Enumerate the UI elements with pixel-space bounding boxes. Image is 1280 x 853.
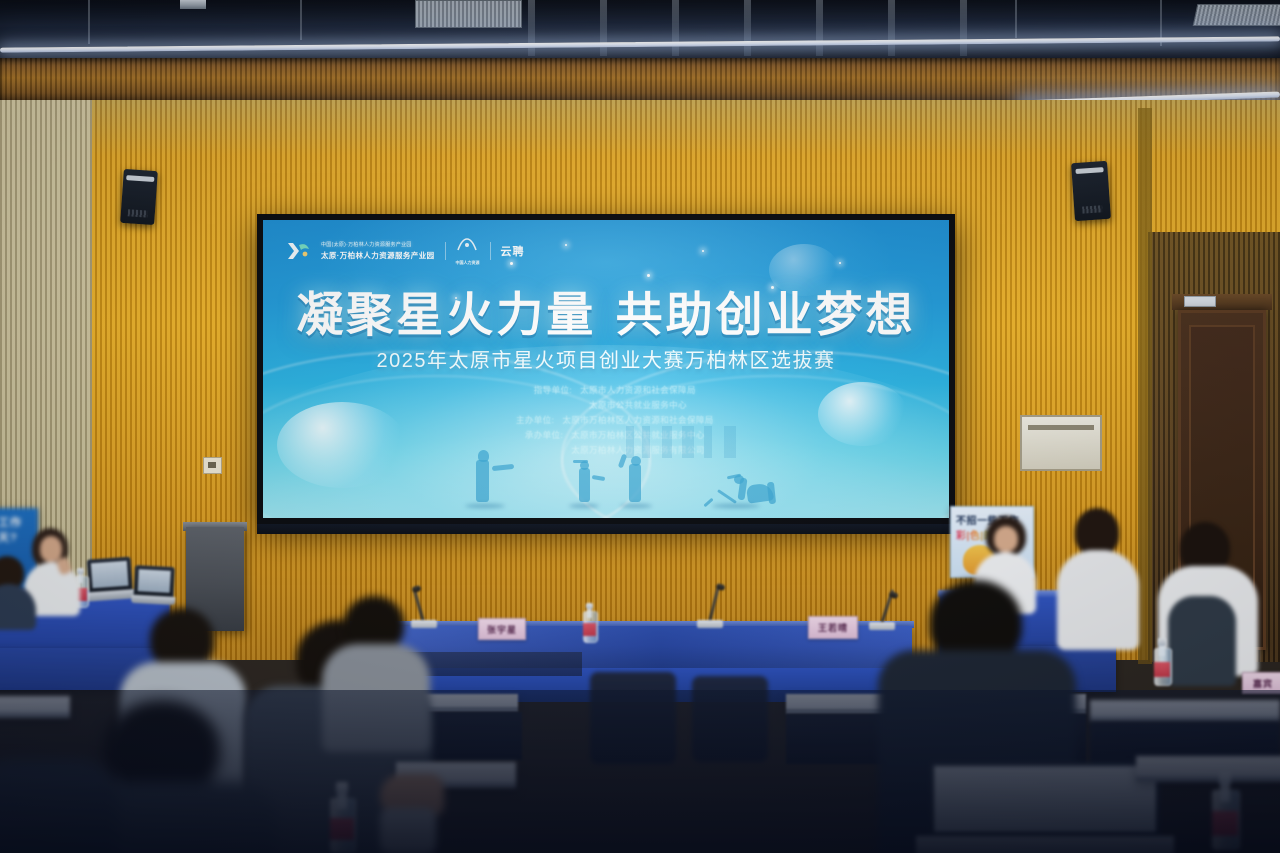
wall-speaker-left [120, 169, 158, 225]
park-logo-top-line: 中国(太原)·万柏林人力资源服务产业园 [321, 241, 435, 248]
ceiling-slat [600, 0, 607, 56]
credit-row: 指导单位: 太原市人力资源和社会保障局 [516, 384, 696, 396]
name-placard-3: 嘉宾 [1242, 672, 1280, 694]
xinghuo-park-logo-icon [285, 240, 311, 262]
name-placard-2: 王若晴 [808, 616, 858, 639]
door-sign [1184, 296, 1216, 307]
credit-value: 太原市人力资源和社会保障局 [580, 384, 696, 396]
audience-person-5 [0, 760, 120, 853]
screen-sparkle [702, 250, 704, 252]
water-bottle-1 [583, 603, 596, 643]
screen-title: 凝聚星火力量 共助创业梦想 [263, 276, 949, 345]
hanger-rod [300, 0, 302, 40]
ceiling [0, 0, 1280, 62]
ceiling-wood-band [0, 58, 1280, 102]
logo-divider-2 [490, 242, 491, 260]
screen-sparkle [565, 244, 567, 246]
ceiling-duct [180, 0, 206, 9]
screen-subtitle: 2025年太原市星火项目创业大赛万柏林区选拔赛 [263, 344, 949, 373]
led-screen-content: 中国(太原)·万柏林人力资源服务产业园 太原·万柏林人力资源服务产业园 中国人力… [263, 220, 949, 518]
ceiling-slat [744, 0, 751, 56]
water-bottle-fg-right [1212, 772, 1238, 850]
ceiling-slat [672, 0, 679, 56]
tertiary-logo-label: 云聘 [501, 243, 525, 259]
chair-2 [692, 676, 768, 762]
ceiling-slat [888, 0, 895, 56]
park-logo-main-line: 太原·万柏林人力资源服务产业园 [321, 250, 435, 261]
control-panel [1020, 415, 1102, 471]
secondary-logo-icon: 中国人力资源 [456, 236, 480, 266]
screen-silhouettes [263, 406, 949, 518]
city-skyline-silhouette [620, 426, 750, 458]
placard-name-2: 王若晴 [818, 621, 848, 634]
laptop-foreground [930, 762, 1160, 853]
laptop-left-1 [87, 557, 134, 602]
water-bottle-right [1154, 638, 1170, 686]
microphone-2 [706, 582, 732, 628]
screen-bottom-bezel [257, 524, 955, 534]
hanger-rod [1015, 0, 1017, 38]
led-screen: 中国(太原)·万柏林人力资源服务产业园 太原·万柏林人力资源服务产业园 中国人力… [257, 214, 955, 524]
ceiling-slat [816, 0, 823, 56]
credit-label: 指导单位: [516, 384, 572, 396]
water-bottle-fg [330, 782, 354, 853]
secondary-logo-label: 中国人力资源 [456, 260, 480, 266]
ceiling-vent-3 [1193, 4, 1280, 26]
chair-1 [590, 672, 676, 764]
staff-person-2 [0, 556, 38, 626]
ceiling-vent [415, 0, 522, 28]
audience-hand-writing [380, 768, 450, 853]
attendee-dark-right [1168, 596, 1238, 688]
placard-name-3: 嘉宾 [1253, 677, 1273, 690]
audience-table-mid-3 [1090, 700, 1280, 722]
ceiling-slat [960, 0, 967, 56]
audience-table-fg-left [0, 696, 70, 718]
audience-person-3 [322, 596, 432, 746]
wall-socket [203, 457, 222, 474]
park-logo-text: 中国(太原)·万柏林人力资源服务产业园 太原·万柏林人力资源服务产业园 [321, 241, 435, 261]
left-banner-text: 工作 天? [0, 516, 22, 546]
logo-divider [445, 242, 446, 260]
conference-hall-photo: 中国(太原)·万柏林人力资源服务产业园 太原·万柏林人力资源服务产业园 中国人力… [0, 0, 1280, 853]
laptop-left-2 [133, 565, 175, 605]
screen-logo-row: 中国(太原)·万柏林人力资源服务产业园 太原·万柏林人力资源服务产业园 中国人力… [285, 236, 525, 266]
placard-name-1: 张宇星 [487, 623, 517, 636]
hanger-rod [88, 0, 90, 44]
screen-sparkle [839, 262, 841, 264]
name-placard-1: 张宇星 [478, 618, 526, 640]
wall-speaker-right [1071, 161, 1111, 221]
audience-table-fg-right [1136, 756, 1280, 782]
